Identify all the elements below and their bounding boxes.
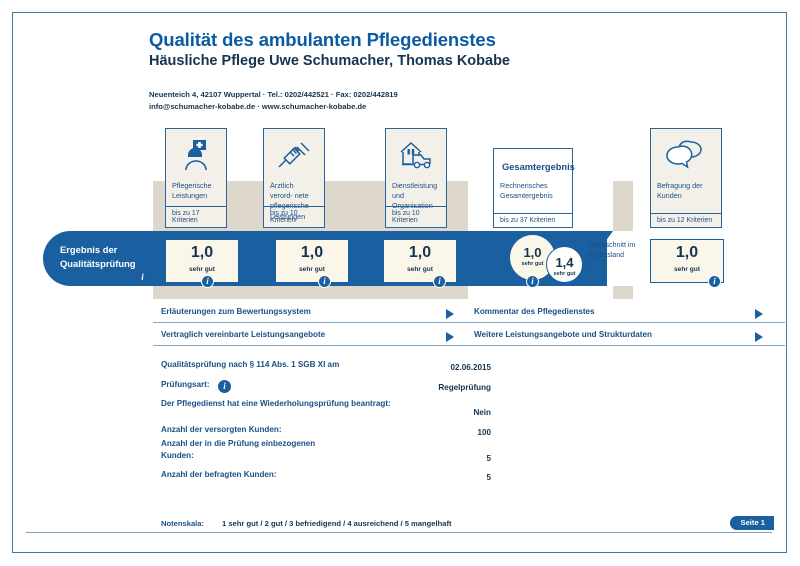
detail-value: Regelprüfung <box>438 383 491 392</box>
category-criteria: bis zu 17 Kriterien <box>166 206 226 228</box>
link-vertraglich[interactable]: Vertraglich vereinbarte Leistungsangebot… <box>161 330 325 339</box>
page-title: Qualität des ambulanten Pflegedienstes <box>149 29 769 50</box>
page-number-badge: Seite 1 <box>730 516 774 531</box>
arrow-icon-2[interactable] <box>755 309 763 319</box>
category-criteria: bis zu 10 Kriterien <box>386 206 446 228</box>
arrow-icon-1[interactable] <box>446 309 454 319</box>
category-card-gesamtergebnis[interactable]: Gesamtergebnis Rechnerisches Gesamtergeb… <box>493 148 573 228</box>
score-box-3: 1,0 sehr gut <box>383 239 457 283</box>
document-page: Qualität des ambulanten Pflegedienstes H… <box>12 12 787 553</box>
category-criteria: bis zu 12 Kriterien <box>651 213 721 228</box>
provider-address: Neuenteich 4, 42107 Wuppertal · Tel.: 02… <box>149 89 769 113</box>
score-label: sehr gut <box>651 266 723 273</box>
category-card-aerztlich-verordnete-leistungen[interactable]: Ärztlich verord- nete pflegerische Leist… <box>263 128 325 228</box>
address-line-2: info@schumacher-kobabe.de · www.schumach… <box>149 101 769 113</box>
link-row-1: Erläuterungen zum Bewertungssystem Komme… <box>153 302 785 323</box>
overall-heading: Gesamtergebnis <box>494 149 572 172</box>
category-title: Befragung der Kunden <box>651 181 721 201</box>
info-icon-result-bar[interactable]: i <box>136 271 149 284</box>
page-header: Qualität des ambulanten Pflegedienstes H… <box>149 29 769 71</box>
link-erlaeuterungen[interactable]: Erläuterungen zum Bewertungssystem <box>161 307 311 316</box>
score-label: sehr gut <box>384 266 456 273</box>
detail-row-versorgte-kunden: Anzahl der versorgten Kunden: 100 <box>161 419 491 437</box>
result-bar-label: Ergebnis der Qualitätsprüfung <box>60 243 160 270</box>
score-value: 1,0 <box>166 245 238 261</box>
speech-bubbles-icon <box>651 129 721 181</box>
score-value: 1,0 <box>384 245 456 261</box>
inspection-details: Qualitätsprüfung nach § 114 Abs. 1 SGB X… <box>161 354 491 484</box>
average-label: sehr gut <box>547 271 582 277</box>
address-line-1: Neuenteich 4, 42107 Wuppertal · Tel.: 02… <box>149 89 769 101</box>
info-icon-pruefungsart[interactable]: i <box>218 380 231 393</box>
score-box-2: 1,0 sehr gut <box>275 239 349 283</box>
score-label: sehr gut <box>166 266 238 273</box>
provider-name: Häusliche Pflege Uwe Schumacher, Thomas … <box>149 53 769 70</box>
detail-label: Qualitätsprüfung nach § 114 Abs. 1 SGB X… <box>161 359 339 371</box>
detail-label: Anzahl der befragten Kunden: <box>161 469 277 481</box>
detail-label: Anzahl der in die Prüfung einbezogenen K… <box>161 438 341 461</box>
house-van-icon <box>386 129 446 181</box>
detail-row-befragte-kunden: Anzahl der befragten Kunden: 5 <box>161 464 491 482</box>
detail-row-pruefung-datum: Qualitätsprüfung nach § 114 Abs. 1 SGB X… <box>161 354 491 372</box>
detail-label: Der Pflegedienst hat eine Wiederholungsp… <box>161 398 411 410</box>
detail-value: 100 <box>477 428 491 437</box>
info-icon-score-3[interactable]: i <box>433 275 446 288</box>
info-icon-score-5[interactable]: i <box>708 275 721 288</box>
info-icon-score-2[interactable]: i <box>318 275 331 288</box>
category-criteria: bis zu 37 Kriterien <box>494 213 572 228</box>
score-circle-state-average: 1,4 sehr gut <box>546 246 583 283</box>
category-card-dienstleistung-organisation[interactable]: Dienstleistung und Organisation bis zu 1… <box>385 128 447 228</box>
score-value: 1,0 <box>276 245 348 261</box>
category-card-befragung-der-kunden[interactable]: Befragung der Kunden bis zu 12 Kriterien <box>650 128 722 228</box>
info-icon-score-overall[interactable]: i <box>526 275 539 288</box>
state-average-caption: Durchschnitt im Bundesland <box>587 241 655 261</box>
info-icon-score-1[interactable]: i <box>201 275 214 288</box>
link-weitere[interactable]: Weitere Leistungsangebote und Strukturda… <box>474 330 652 339</box>
arrow-icon-4[interactable] <box>755 332 763 342</box>
link-row-2: Vertraglich vereinbarte Leistungsangebot… <box>153 325 785 346</box>
detail-value: 5 <box>486 473 491 482</box>
link-kommentar[interactable]: Kommentar des Pflegedienstes <box>474 307 595 316</box>
category-criteria: bis zu 10 Kriterien <box>264 206 324 228</box>
score-label: sehr gut <box>276 266 348 273</box>
grade-scale-value: 1 sehr gut / 2 gut / 3 befriedigend / 4 … <box>222 519 452 528</box>
nurse-icon <box>166 129 226 181</box>
detail-row-pruefungsart: Prüfungsart: i Regelprüfung <box>161 374 491 392</box>
category-title: Rechnerisches Gesamtergebnis <box>494 181 572 201</box>
arrow-icon-3[interactable] <box>446 332 454 342</box>
detail-row-einbezogene-kunden: Anzahl der in die Prüfung einbezogenen K… <box>161 438 491 463</box>
detail-value: Nein <box>473 408 491 417</box>
detail-row-wiederholungspruefung: Der Pflegedienst hat eine Wiederholungsp… <box>161 393 491 417</box>
detail-value: 02.06.2015 <box>450 363 491 372</box>
score-value: 1,0 <box>651 245 723 261</box>
category-title: Pflegerische Leistungen <box>166 181 226 201</box>
detail-label: Anzahl der versorgten Kunden: <box>161 424 282 436</box>
category-card-pflegerische-leistungen[interactable]: Pflegerische Leistungen bis zu 17 Kriter… <box>165 128 227 228</box>
detail-label: Prüfungsart: <box>161 379 210 391</box>
grade-scale-label: Notenskala: <box>161 519 204 528</box>
average-value: 1,4 <box>547 256 582 269</box>
detail-value: 5 <box>486 454 491 463</box>
footer-divider <box>26 532 772 533</box>
syringe-icon <box>264 129 324 181</box>
